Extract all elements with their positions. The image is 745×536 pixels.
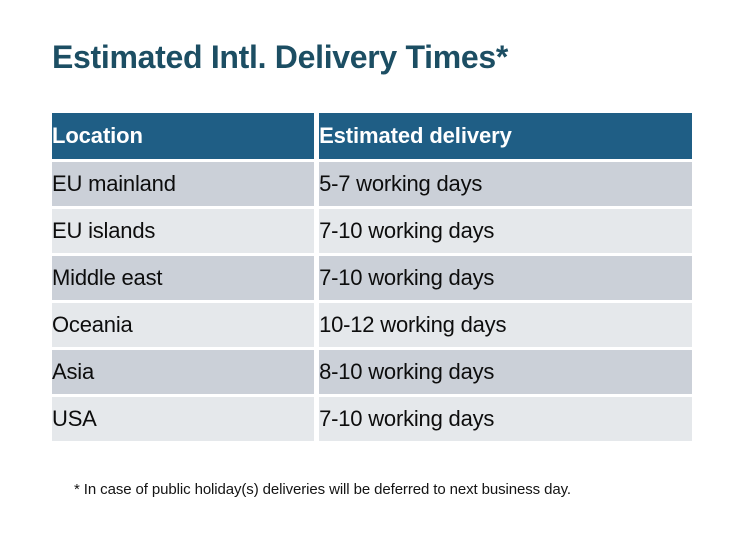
table-header-row: Location Estimated delivery bbox=[52, 113, 692, 159]
cell-location: EU islands bbox=[52, 206, 319, 253]
table-body: EU mainland 5-7 working days EU islands … bbox=[52, 159, 692, 441]
cell-location: USA bbox=[52, 394, 319, 441]
estimated-delivery-table: Location Estimated delivery EU mainland … bbox=[52, 113, 692, 441]
cell-location: Oceania bbox=[52, 300, 319, 347]
cell-estimated-delivery: 10-12 working days bbox=[319, 300, 692, 347]
cell-estimated-delivery: 7-10 working days bbox=[319, 253, 692, 300]
cell-estimated-delivery: 7-10 working days bbox=[319, 394, 692, 441]
delivery-times-document: Estimated Intl. Delivery Times* Location… bbox=[0, 0, 745, 536]
footnote: * In case of public holiday(s) deliverie… bbox=[74, 481, 571, 498]
table-row: EU mainland 5-7 working days bbox=[52, 159, 692, 206]
cell-location: EU mainland bbox=[52, 159, 319, 206]
column-header-estimated-delivery: Estimated delivery bbox=[319, 113, 692, 159]
cell-location: Asia bbox=[52, 347, 319, 394]
column-header-location: Location bbox=[52, 113, 319, 159]
table-row: EU islands 7-10 working days bbox=[52, 206, 692, 253]
table-row: USA 7-10 working days bbox=[52, 394, 692, 441]
page-title: Estimated Intl. Delivery Times* bbox=[52, 36, 508, 78]
table-row: Asia 8-10 working days bbox=[52, 347, 692, 394]
table-row: Middle east 7-10 working days bbox=[52, 253, 692, 300]
table-header: Location Estimated delivery bbox=[52, 113, 692, 159]
cell-location: Middle east bbox=[52, 253, 319, 300]
cell-estimated-delivery: 5-7 working days bbox=[319, 159, 692, 206]
cell-estimated-delivery: 8-10 working days bbox=[319, 347, 692, 394]
table-row: Oceania 10-12 working days bbox=[52, 300, 692, 347]
cell-estimated-delivery: 7-10 working days bbox=[319, 206, 692, 253]
